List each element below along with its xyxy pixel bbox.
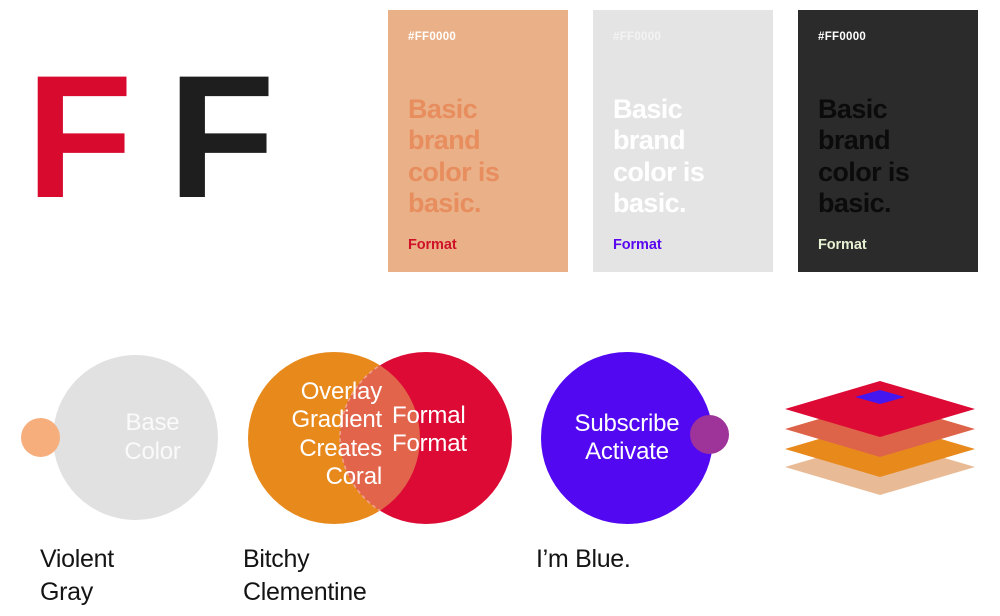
accent-dot-purple: [690, 415, 729, 454]
card-hex-label: #FF0000: [613, 32, 753, 44]
color-card-gray: #FF0000 Basic brand color is basic. Form…: [593, 10, 773, 272]
blue-circle-label: Subscribe Activate: [575, 410, 680, 467]
base-color-label: Base Color: [90, 409, 180, 466]
base-color-circle: Base Color: [53, 355, 218, 520]
card-brand-name: Format: [818, 238, 958, 253]
card-headline: Basic brand color is basic.: [818, 94, 958, 238]
card-hex-label: #FF0000: [408, 32, 548, 44]
color-card-peach: #FF0000 Basic brand color is basic. Form…: [388, 10, 568, 272]
venn-label-right: Formal Format: [392, 402, 502, 459]
accent-dot-peach: [21, 418, 60, 457]
card-brand-name: Format: [408, 238, 548, 253]
brand-color-guide-canvas: F F #FF0000 Basic brand color is basic. …: [0, 0, 1000, 616]
caption-violent-gray: Violent Gray: [40, 543, 114, 608]
venn-label-left: Overlay Gradient Creates Coral: [246, 378, 382, 491]
logo-letter-secondary: F: [168, 50, 273, 225]
color-card-dark: #FF0000 Basic brand color is basic. Form…: [798, 10, 978, 272]
swatch-group-layer-stack: [760, 340, 1000, 540]
caption-im-blue: I’m Blue.: [536, 543, 631, 576]
caption-bitchy-clementine: Bitchy Clementine: [243, 543, 366, 608]
card-headline: Basic brand color is basic.: [613, 94, 753, 238]
logo-letter-primary: F: [26, 50, 131, 225]
card-brand-name: Format: [613, 238, 753, 253]
layer-stack-diagram: [760, 340, 1000, 540]
card-headline: Basic brand color is basic.: [408, 94, 548, 238]
blue-circle: Subscribe Activate: [541, 352, 713, 524]
swatch-group-violent-gray: Base Color: [0, 340, 240, 616]
card-hex-label: #FF0000: [818, 32, 958, 44]
